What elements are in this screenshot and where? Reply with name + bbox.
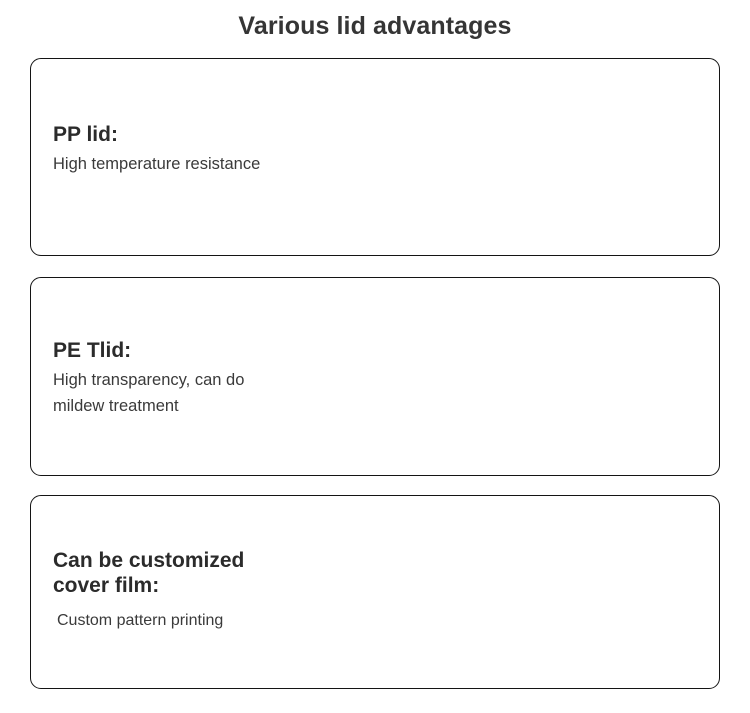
card-pp-lid-text: PP lid: High temperature resistance <box>53 122 260 177</box>
card-pe-lid-heading: PE Tlid: <box>53 338 244 363</box>
card-pp-lid: PP lid: High temperature resistance <box>30 58 720 256</box>
card-cover-film-heading: Can be customized cover film: <box>53 548 244 598</box>
card-cover-film-text: Can be customized cover film: Custom pat… <box>53 548 244 634</box>
card-pp-lid-subtitle: High temperature resistance <box>53 151 260 177</box>
card-pe-lid-subtitle: High transparency, can do mildew treatme… <box>53 367 244 419</box>
card-pe-lid: PE Tlid: High transparency, can do milde… <box>30 277 720 476</box>
card-pp-lid-heading: PP lid: <box>53 122 260 147</box>
card-cover-film: Can be customized cover film: Custom pat… <box>30 495 720 689</box>
page-title: Various lid advantages <box>0 10 750 42</box>
card-pe-lid-text: PE Tlid: High transparency, can do milde… <box>53 338 244 419</box>
card-cover-film-subtitle: Custom pattern printing <box>53 608 244 634</box>
